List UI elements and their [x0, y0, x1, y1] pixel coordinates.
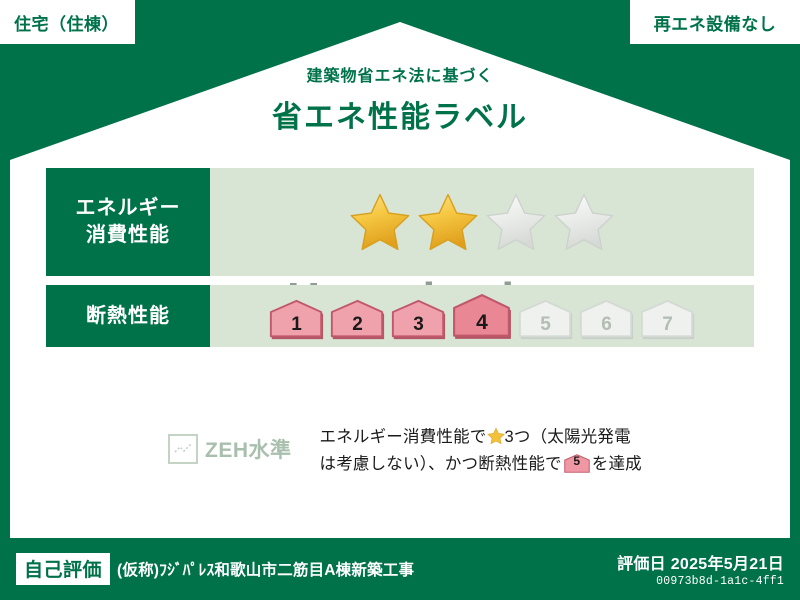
zeh-note: ZEH水準 エネルギー消費性能で 3つ（太陽光発電 は考慮しない）、かつ断熱性能… [168, 424, 670, 477]
row-insulation-label: 断熱性能 [46, 285, 210, 347]
insulation-grade-number: 5 [517, 314, 574, 336]
footer-left: 自己評価 (仮称)ﾌｼﾞﾊﾟﾚｽ和歌山市二筋目A棟新築工事 [0, 553, 617, 585]
zeh-description: エネルギー消費性能で 3つ（太陽光発電 は考慮しない）、かつ断熱性能で 5を達成 [320, 424, 670, 477]
star-icon-empty [485, 191, 547, 253]
footer-right: 評価日 2025年5月21日 00973b8d-1a1c-4ff1 [617, 550, 800, 588]
star-icon-empty [553, 191, 615, 253]
building-name: (仮称)ﾌｼﾞﾊﾟﾚｽ和歌山市二筋目A棟新築工事 [117, 558, 414, 580]
inline-grade-number: 5 [564, 452, 590, 471]
insulation-grade-5: 5 [517, 299, 574, 340]
star-icon-filled [349, 191, 411, 253]
footer: 自己評価 (仮称)ﾌｼﾞﾊﾟﾚｽ和歌山市二筋目A棟新築工事 評価日 2025年5… [0, 538, 800, 600]
zeh-checkbox-icon [168, 434, 198, 464]
badge-renewable-equipment-label: 再エネ設備なし [654, 10, 777, 35]
evaluation-date: 評価日 2025年5月21日 [617, 550, 784, 574]
badge-renewable-equipment: 再エネ設備なし [630, 0, 800, 44]
insulation-grade-number: 6 [578, 314, 635, 336]
row-insulation-performance: 断熱性能 1234567 [46, 285, 754, 347]
title-block: 建築物省エネ法に基づく 省エネ性能ラベル [0, 62, 800, 136]
insulation-grade-4: 4 [451, 293, 513, 340]
zeh-text-part3: を達成 [592, 455, 642, 473]
insulation-grade-2: 2 [329, 299, 386, 340]
badge-building-type: 住宅（住棟） [0, 0, 135, 44]
row-energy-body [210, 168, 754, 276]
evaluation-type-badge: 自己評価 [16, 553, 110, 585]
evaluation-id: 00973b8d-1a1c-4ff1 [617, 575, 784, 588]
page-title: 省エネ性能ラベル [0, 92, 800, 136]
insulation-grade-7: 7 [639, 299, 696, 340]
row-energy-label: エネルギー 消費性能 [46, 168, 210, 276]
star-rating [349, 191, 615, 253]
zeh-mark: ZEH水準 [168, 434, 292, 464]
insulation-grade-3: 3 [390, 299, 447, 340]
energy-performance-label: 住宅（住棟） 再エネ設備なし 建築物省エネ法に基づく 省エネ性能ラベル Hous… [0, 0, 800, 600]
zeh-label: ZEH水準 [205, 434, 292, 464]
insulation-grade-6: 6 [578, 299, 635, 340]
zeh-text-part1: エネルギー消費性能で [320, 428, 487, 446]
zeh-text-star-count: 3つ（太陽光発電 [505, 428, 631, 446]
title-subtitle: 建築物省エネ法に基づく [0, 62, 800, 86]
insulation-grade-number: 4 [451, 311, 513, 335]
star-icon-inline [487, 427, 505, 445]
badge-building-type-label: 住宅（住棟） [14, 10, 119, 35]
insulation-grade-number: 3 [390, 314, 447, 336]
row-energy-label-line1: エネルギー [76, 195, 181, 222]
row-insulation-label-line1: 断熱性能 [86, 303, 170, 330]
insulation-grade-number: 2 [329, 314, 386, 336]
row-energy-label-line2: 消費性能 [86, 222, 170, 249]
star-icon-filled [417, 191, 479, 253]
inline-grade-badge: 5 [564, 454, 590, 473]
insulation-grade-number: 7 [639, 314, 696, 336]
zeh-text-part2: は考慮しない）、かつ断熱性能で [320, 455, 562, 473]
performance-rows: エネルギー 消費性能 断熱性能 1234567 [46, 168, 754, 356]
row-insulation-body: 1234567 [210, 285, 754, 347]
row-energy-performance: エネルギー 消費性能 [46, 168, 754, 276]
insulation-grade-1: 1 [268, 299, 325, 340]
insulation-grade-number: 1 [268, 314, 325, 336]
insulation-grade-strip: 1234567 [268, 293, 696, 340]
